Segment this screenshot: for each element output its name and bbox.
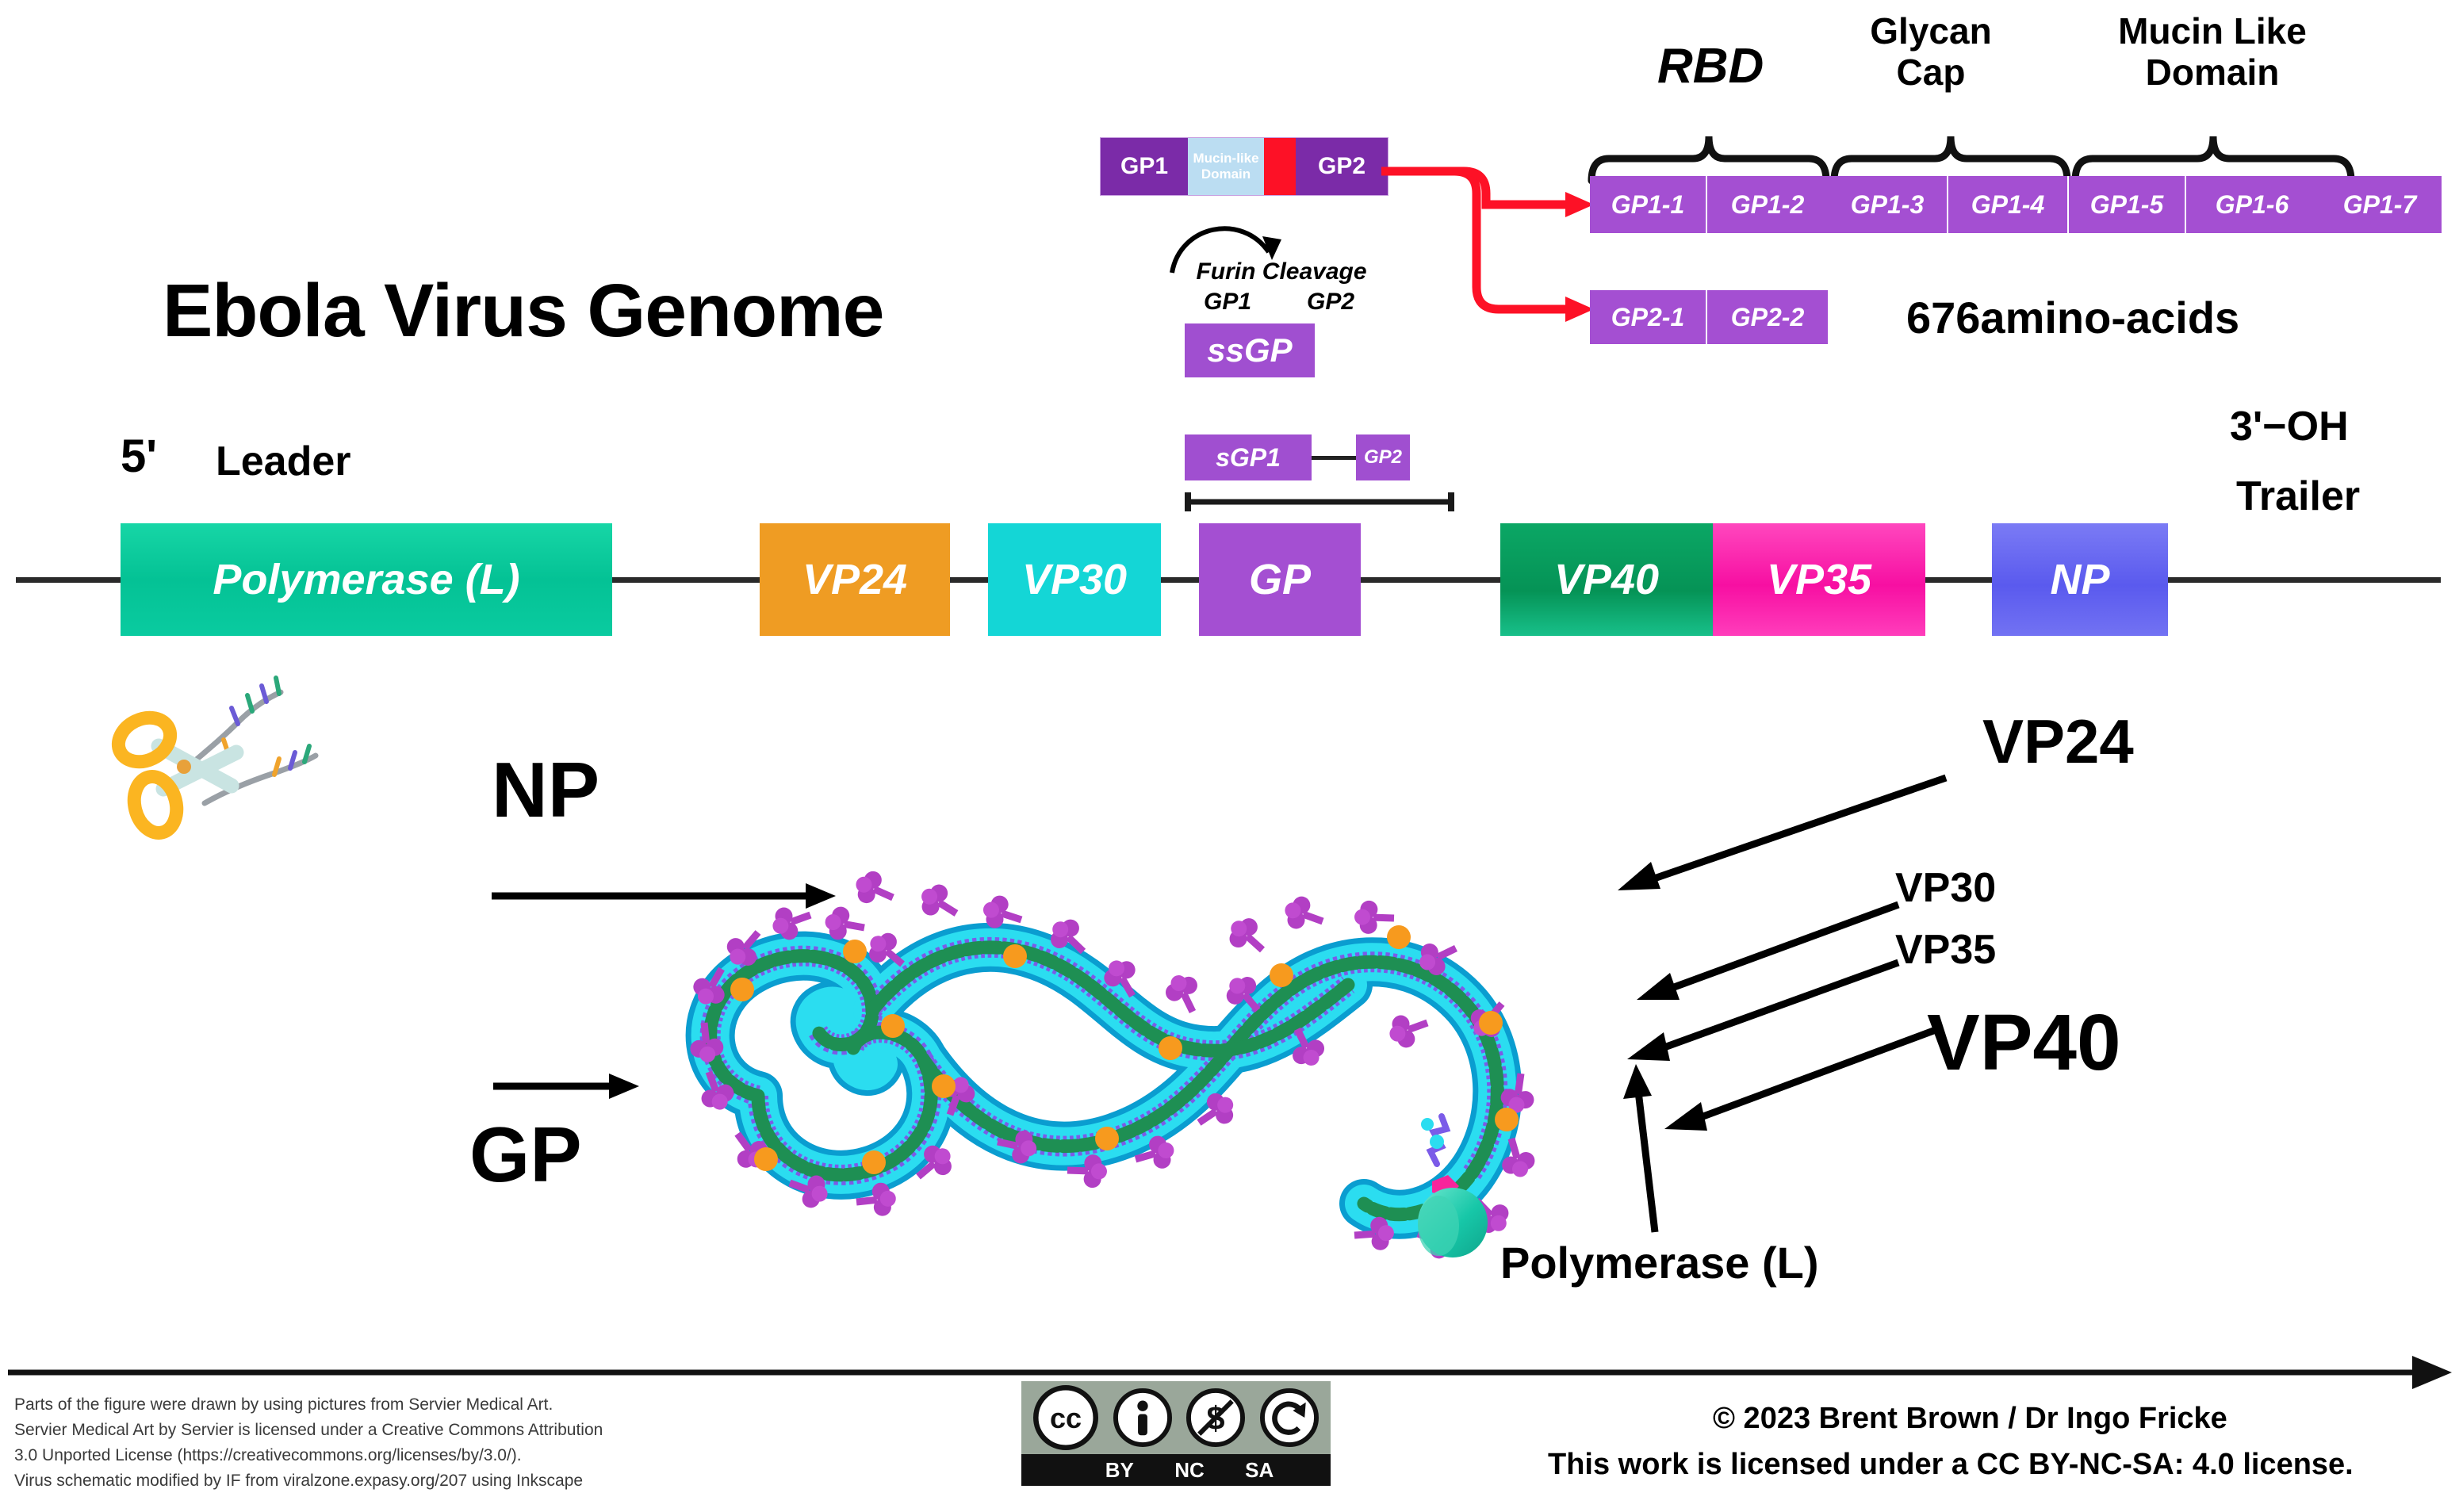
- glycan-cap-label: Glycan Cap: [1848, 11, 2014, 93]
- attribution-block: Parts of the figure were drawn by using …: [14, 1392, 799, 1494]
- mucin-line-2: Domain: [1201, 167, 1251, 182]
- gp-precursor-gp1: GP1: [1101, 138, 1188, 195]
- glycan-cap-line-1: Glycan: [1870, 11, 1991, 52]
- gp1-subunit-row: GP1-1 GP1-2 GP1-3 GP1-4 GP1-5 GP1-6 GP1-…: [1590, 176, 2442, 233]
- gp2-segment: GP2-1: [1590, 290, 1707, 344]
- virion-label-np: NP: [492, 745, 599, 835]
- np-callout-arrow: [490, 880, 839, 912]
- mucin-domain-brace: [2074, 135, 2353, 182]
- license-line: This work is licensed under a CC BY-NC-S…: [1548, 1448, 2354, 1482]
- gp1-segment: GP1-7: [2318, 176, 2442, 233]
- sgp-connector-line: [1312, 456, 1356, 460]
- virion-label-gp: GP: [469, 1110, 582, 1200]
- attribution-line: 3.0 Unported License (https://creativeco…: [14, 1443, 799, 1468]
- glycan-cap-line-2: Cap: [1897, 52, 1966, 94]
- leader-label: Leader: [216, 438, 351, 485]
- virion-label-vp30: VP30: [1895, 864, 1996, 912]
- amino-acids-count: 676amino-acids: [1906, 292, 2239, 343]
- mucin-domain-line-1: Mucin Like: [2118, 11, 2307, 52]
- gp1-segment: GP1-6: [2186, 176, 2318, 233]
- sgp-gp2-box: GP2: [1356, 434, 1410, 480]
- ssgp-box: ssGP: [1185, 323, 1315, 377]
- mucin-like-domain-label: Mucin Like Domain: [2093, 11, 2331, 93]
- page-title: Ebola Virus Genome: [163, 268, 883, 354]
- gp-callout-arrow: [492, 1070, 642, 1102]
- scissors-dna-icon: [111, 670, 325, 852]
- gp1-segment: GP1-1: [1590, 176, 1707, 233]
- gene-box-gp: GP: [1199, 523, 1361, 636]
- svg-text:cc: cc: [1050, 1402, 1082, 1434]
- cc-license-badge[interactable]: cc $ BY NC SA: [1021, 1381, 1331, 1486]
- gp-precursor-mucin-domain: Mucin-like Domain: [1188, 138, 1264, 195]
- virion-label-vp24: VP24: [1982, 706, 2134, 778]
- virion-label-vp35: VP35: [1895, 926, 1996, 974]
- sgp1-box: sGP1: [1185, 434, 1312, 480]
- cc-by-icon: [1113, 1388, 1172, 1447]
- rbd-label: RBD: [1657, 38, 1764, 94]
- gp1-segment: GP1-2: [1707, 176, 1828, 233]
- furin-cleavage-label: Furin Cleavage: [1178, 258, 1385, 285]
- glycan-cap-brace: [1833, 135, 2069, 182]
- furin-gp2-label: GP2: [1307, 289, 1354, 316]
- gene-box-polymerase: Polymerase (L): [121, 523, 612, 636]
- copyright-line: © 2023 Brent Brown / Dr Ingo Fricke: [1713, 1402, 2227, 1436]
- cc-nc-icon: $: [1186, 1388, 1245, 1447]
- gp-precursor-bar: GP1 Mucin-like Domain GP2: [1101, 138, 1388, 195]
- gene-box-np: NP: [1992, 523, 2168, 636]
- attribution-line: Servier Medical Art by Servier is licens…: [14, 1418, 799, 1443]
- cc-mark-nc: NC: [1174, 1458, 1205, 1483]
- gp2-segment: GP2-2: [1707, 290, 1828, 344]
- gp1-segment: GP1-5: [2069, 176, 2186, 233]
- trailer-label: Trailer: [2236, 473, 2360, 520]
- cc-logo-icon: cc: [1033, 1385, 1098, 1450]
- furin-gp1-label: GP1: [1204, 289, 1251, 316]
- five-prime-label: 5': [121, 430, 157, 483]
- mucin-line-1: Mucin-like: [1193, 151, 1258, 167]
- attribution-line: Virus schematic modified by IF from vira…: [14, 1468, 799, 1494]
- cc-mark-sa: SA: [1245, 1458, 1274, 1483]
- furin-cleavage-site: [1264, 138, 1296, 195]
- gene-box-vp24: VP24: [760, 523, 950, 636]
- attribution-line: Parts of the figure were drawn by using …: [14, 1392, 799, 1418]
- gene-box-vp35: VP35: [1713, 523, 1925, 636]
- virion-label-vp40: VP40: [1927, 997, 2121, 1089]
- ebola-genome-figure: Ebola Virus Genome GP1 Mucin-like Domain…: [0, 0, 2459, 1512]
- gp1-segment: GP1-3: [1828, 176, 1948, 233]
- vp40-callout-arrow: [1653, 1023, 1947, 1134]
- polymerase-callout-arrow: [1622, 1062, 1669, 1237]
- sgp-extent-bar: [1183, 490, 1461, 514]
- gp2-subunit-row: GP2-1 GP2-2: [1590, 290, 1828, 344]
- virion-label-polymerase: Polymerase (L): [1500, 1237, 1819, 1288]
- gp-precursor-gp2: GP2: [1296, 138, 1388, 195]
- three-prime-oh-label: 3'−OH: [2230, 403, 2349, 450]
- gp1-segment: GP1-4: [1948, 176, 2069, 233]
- gene-box-vp30: VP30: [988, 523, 1161, 636]
- cc-mark-by: BY: [1105, 1458, 1134, 1483]
- mucin-domain-line-2: Domain: [2146, 52, 2280, 94]
- gp-cleavage-connector: [1378, 147, 1600, 354]
- rbd-brace: [1590, 135, 1828, 182]
- cc-sa-icon: [1260, 1388, 1319, 1447]
- gene-box-vp40: VP40: [1500, 523, 1713, 636]
